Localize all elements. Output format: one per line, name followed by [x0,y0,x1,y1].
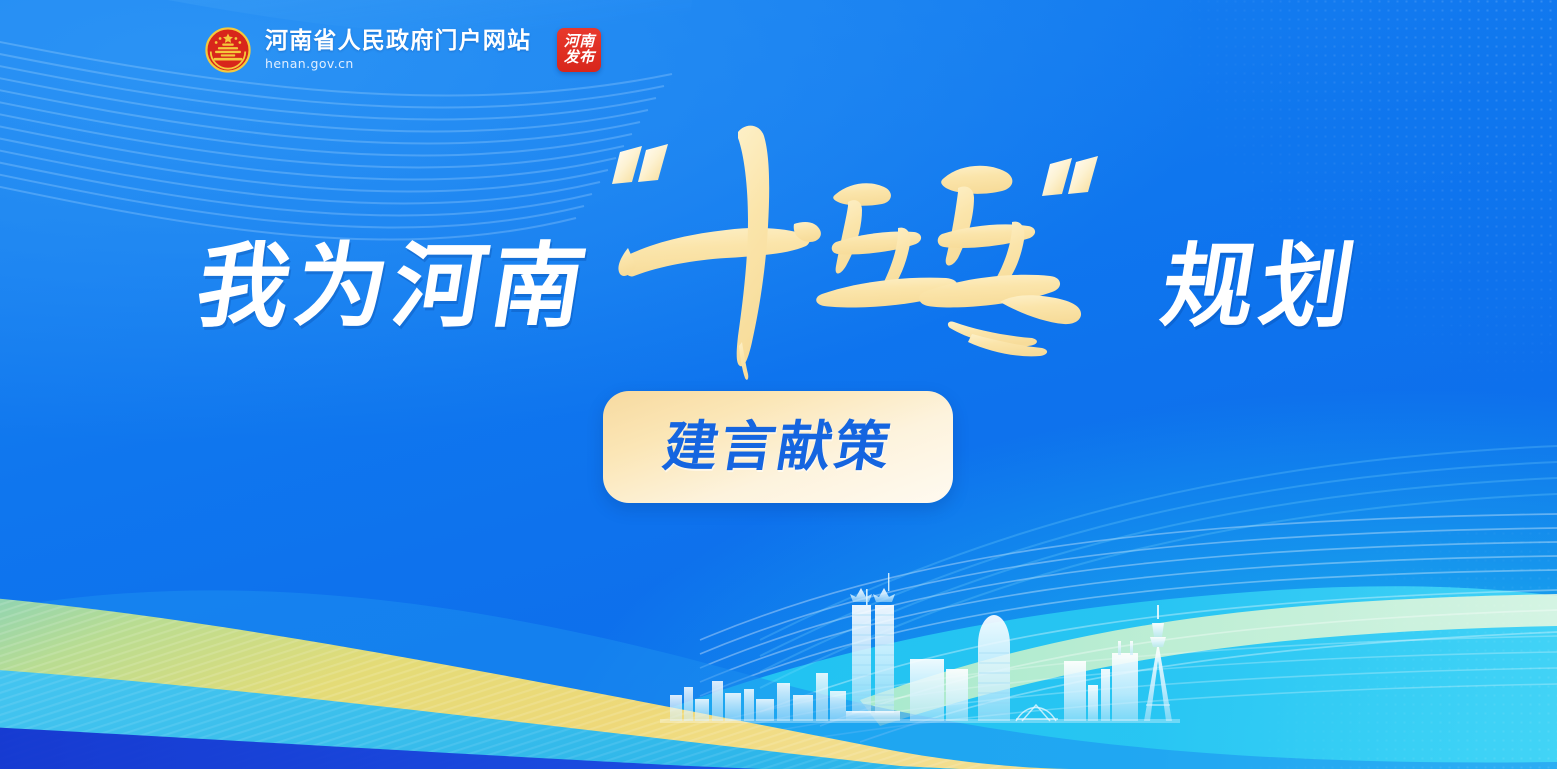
publish-badge-line1: 河南 [564,34,595,50]
skyline-svg [660,553,1180,723]
white-line-waves-right [700,514,1557,742]
twin-corn-towers [846,573,900,721]
skyline-mid-buildings [910,659,968,721]
mid-blue-wave-left [0,590,1557,769]
site-brand-text: 河南省人民政府门户网站 henan.gov.cn [265,29,531,71]
quote-close-mark [1042,156,1098,196]
gold-wave-stripes [0,596,1070,769]
cyan-wave-stripes [0,668,960,769]
calligraphy-svg [598,116,1123,386]
fortune-tower [1144,605,1172,721]
calligraphy-quoted-term [598,116,1123,386]
halftone-dot-field-top-right [1177,0,1557,400]
upper-right-arcs [760,446,1557,688]
site-header[interactable]: 河南省人民政府门户网站 henan.gov.cn 河南 发布 [205,27,601,73]
background-decoration-layer [0,0,1557,769]
title-row: 我为河南 规划 [0,222,1557,352]
quote-open-mark [612,144,668,184]
skyline-ground [660,719,1180,723]
deep-blue-wave-corner [0,726,760,769]
gold-wave-ribbon [0,596,1070,769]
publish-badge-line2: 发布 [564,50,595,66]
skyline-bridge [1016,705,1058,721]
calligraphy-char-wu-1 [816,183,958,307]
china-national-emblem-icon [205,27,251,73]
sub-badge-jianyanxiance[interactable]: 建言献策 [603,391,953,503]
mint-wave-ribbon [860,594,1557,726]
site-title: 河南省人民政府门户网站 [265,29,531,52]
hero-title-block: 我为河南 规划 [0,0,1557,769]
cyan-wave-left [0,668,960,769]
sub-badge-label: 建言献策 [660,420,897,474]
calligraphy-char-wu-2 [919,166,1081,357]
background-waves-svg [0,0,1557,769]
title-left-text: 我为河南 [191,241,598,333]
zhengzhou-city-skyline [660,553,1180,723]
cyan-wave-right [520,586,1557,769]
skyline-right-buildings [1064,641,1138,721]
poster-banner: 河南省人民政府门户网站 henan.gov.cn 河南 发布 我为河南 规划 [0,0,1557,769]
site-url: henan.gov.cn [265,58,531,71]
henan-publish-badge[interactable]: 河南 发布 [557,28,601,72]
white-line-waves-right-lower [560,636,1557,769]
title-right-text: 规划 [1156,241,1367,333]
skyline-left-buildings [670,673,846,721]
calligraphy-char-shi [618,126,820,380]
corn-tower [978,615,1010,721]
halftone-dot-field-bottom-right [1157,529,1557,769]
